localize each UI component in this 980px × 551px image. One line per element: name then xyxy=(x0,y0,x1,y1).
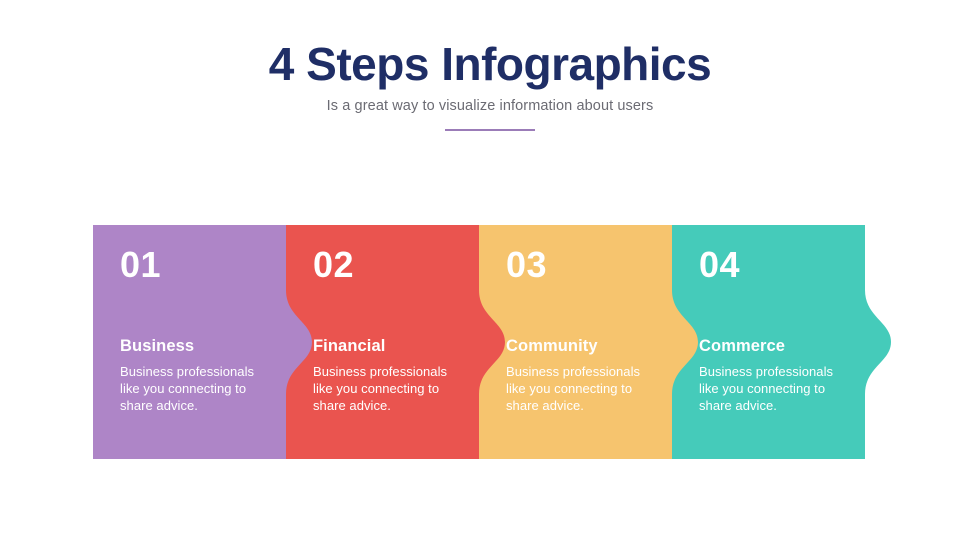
page-subtitle: Is a great way to visualize information … xyxy=(0,98,980,114)
step-content-1: 01 Business Business professionals like … xyxy=(93,225,286,459)
step-heading-1: Business xyxy=(120,337,194,356)
step-content-2: 02 Financial Business professionals like… xyxy=(286,225,479,459)
step-content-4: 04 Commerce Business professionals like … xyxy=(672,225,865,459)
step-number-2: 02 xyxy=(313,247,457,283)
step-number-3: 03 xyxy=(506,247,650,283)
slide-canvas: 4 Steps Infographics Is a great way to v… xyxy=(0,0,980,551)
step-number-4: 04 xyxy=(699,247,843,283)
step-body-2: Business professionals like you connecti… xyxy=(313,363,453,414)
step-body-3: Business professionals like you connecti… xyxy=(506,363,646,414)
steps-strip: 01 Business Business professionals like … xyxy=(93,225,893,459)
slide-header: 4 Steps Infographics Is a great way to v… xyxy=(0,40,980,131)
step-heading-3: Community xyxy=(506,337,598,356)
step-body-4: Business professionals like you connecti… xyxy=(699,363,839,414)
step-number-1: 01 xyxy=(120,247,264,283)
step-heading-4: Commerce xyxy=(699,337,785,356)
title-divider xyxy=(445,129,535,131)
page-title: 4 Steps Infographics xyxy=(0,40,980,88)
step-card-2[interactable]: 02 Financial Business professionals like… xyxy=(286,225,505,459)
step-card-4[interactable]: 04 Commerce Business professionals like … xyxy=(672,225,891,459)
step-content-3: 03 Community Business professionals like… xyxy=(479,225,672,459)
step-card-1[interactable]: 01 Business Business professionals like … xyxy=(93,225,312,459)
step-body-1: Business professionals like you connecti… xyxy=(120,363,260,414)
step-card-3[interactable]: 03 Community Business professionals like… xyxy=(479,225,698,459)
step-heading-2: Financial xyxy=(313,337,385,356)
